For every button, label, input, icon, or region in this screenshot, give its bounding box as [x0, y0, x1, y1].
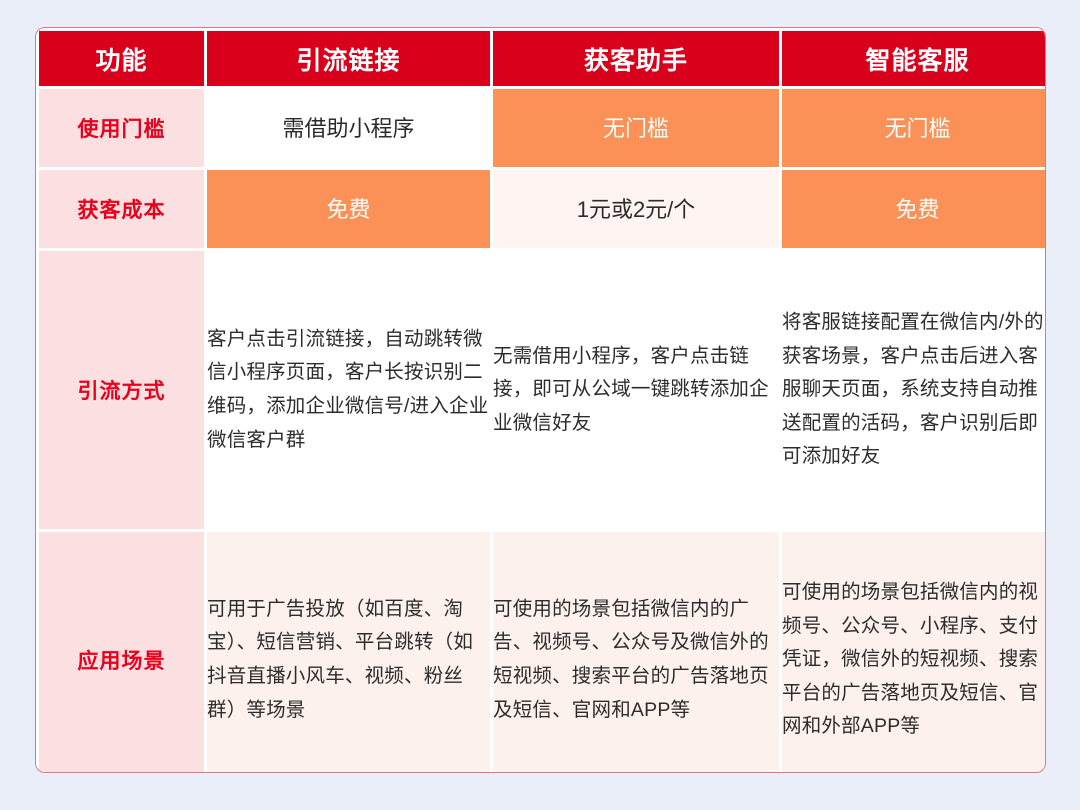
- row-label-cost: 获客成本: [39, 170, 204, 248]
- cell-scenario-col2: 可使用的场景包括微信内的广告、视频号、公众号及微信外的短视频、搜索平台的广告落地…: [493, 532, 779, 773]
- cell-threshold-col2: 无门槛: [493, 89, 779, 167]
- cell-scenario-col3: 可使用的场景包括微信内的视频号、公众号、小程序、支付凭证，微信外的短视频、搜索平…: [782, 532, 1046, 773]
- table-row: 使用门槛 需借助小程序 无门槛 无门槛: [39, 89, 1046, 167]
- row-label-threshold: 使用门槛: [39, 89, 204, 167]
- cell-traffic-col2: 无需借用小程序，客户点击链接，即可从公域一键跳转添加企业微信好友: [493, 251, 779, 529]
- cell-cost-col2: 1元或2元/个: [493, 170, 779, 248]
- row-label-scenario: 应用场景: [39, 532, 204, 773]
- cell-traffic-col1: 客户点击引流链接，自动跳转微信小程序页面，客户长按识别二维码，添加企业微信号/进…: [207, 251, 490, 529]
- header-cell-column-1: 引流链接: [207, 31, 490, 86]
- table-header-row: 功能 引流链接 获客助手 智能客服: [39, 31, 1046, 86]
- comparison-table-page: 功能 引流链接 获客助手 智能客服 使用门槛 需借助小程序 无门槛 无门槛 获客…: [0, 0, 1080, 810]
- cell-cost-col3: 免费: [782, 170, 1046, 248]
- header-cell-feature: 功能: [39, 31, 204, 86]
- comparison-grid: 功能 引流链接 获客助手 智能客服 使用门槛 需借助小程序 无门槛 无门槛 获客…: [36, 28, 1046, 773]
- cell-cost-col1: 免费: [207, 170, 490, 248]
- cell-threshold-col1: 需借助小程序: [207, 89, 490, 167]
- table-row: 应用场景 可用于广告投放（如百度、淘宝）、短信营销、平台跳转（如抖音直播小风车、…: [39, 532, 1046, 773]
- feature-comparison-table: 功能 引流链接 获客助手 智能客服 使用门槛 需借助小程序 无门槛 无门槛 获客…: [35, 27, 1046, 773]
- row-label-traffic-method: 引流方式: [39, 251, 204, 529]
- table-row: 引流方式 客户点击引流链接，自动跳转微信小程序页面，客户长按识别二维码，添加企业…: [39, 251, 1046, 529]
- cell-threshold-col3: 无门槛: [782, 89, 1046, 167]
- header-cell-column-2: 获客助手: [493, 31, 779, 86]
- cell-scenario-col1: 可用于广告投放（如百度、淘宝）、短信营销、平台跳转（如抖音直播小风车、视频、粉丝…: [207, 532, 490, 773]
- cell-traffic-col3: 将客服链接配置在微信内/外的获客场景，客户点击后进入客服聊天页面，系统支持自动推…: [782, 251, 1046, 529]
- header-cell-column-3: 智能客服: [782, 31, 1046, 86]
- table-row: 获客成本 免费 1元或2元/个 免费: [39, 170, 1046, 248]
